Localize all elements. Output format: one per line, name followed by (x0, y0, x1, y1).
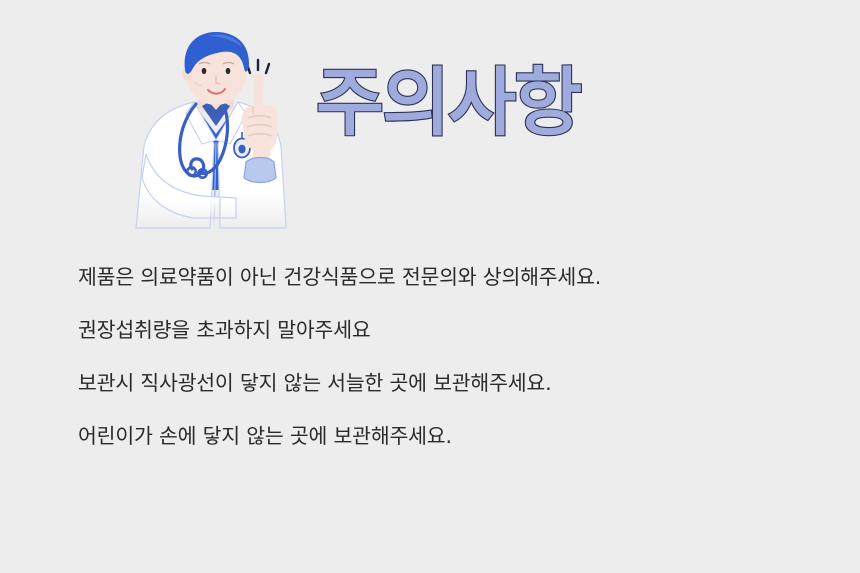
doctor-pointing-up-illustration (124, 22, 308, 234)
emphasis-mark-right (266, 64, 269, 73)
notice-line-1: 제품은 의료약품이 아닌 건강식품으로 전문의와 상의해주세요. (78, 262, 818, 292)
notice-line-3: 보관시 직사광선이 닿지 않는 서늘한 곳에 보관해주세요. (78, 368, 818, 398)
sleeve-cuff-right (244, 158, 276, 183)
notice-list: 제품은 의료약품이 아닌 건강식품으로 전문의와 상의해주세요. 권장섭취량을 … (78, 262, 818, 451)
page-title: 주의사항 (316, 55, 616, 151)
chest-badge-center (238, 145, 245, 154)
doctor-svg (124, 22, 308, 234)
page-title-wrap: 주의사항 (316, 55, 616, 155)
notice-line-2: 권장섭취량을 초과하지 말아주세요 (78, 315, 818, 345)
notice-page: 주의사항 제품은 의료약품이 아닌 건강식품으로 전문의와 상의해주세요. 권장… (0, 0, 860, 573)
header-band: 주의사항 (0, 0, 860, 240)
eye-left (202, 68, 207, 74)
notice-line-4: 어린이가 손에 닿지 않는 곳에 보관해주세요. (78, 421, 818, 451)
eye-right (226, 68, 231, 74)
